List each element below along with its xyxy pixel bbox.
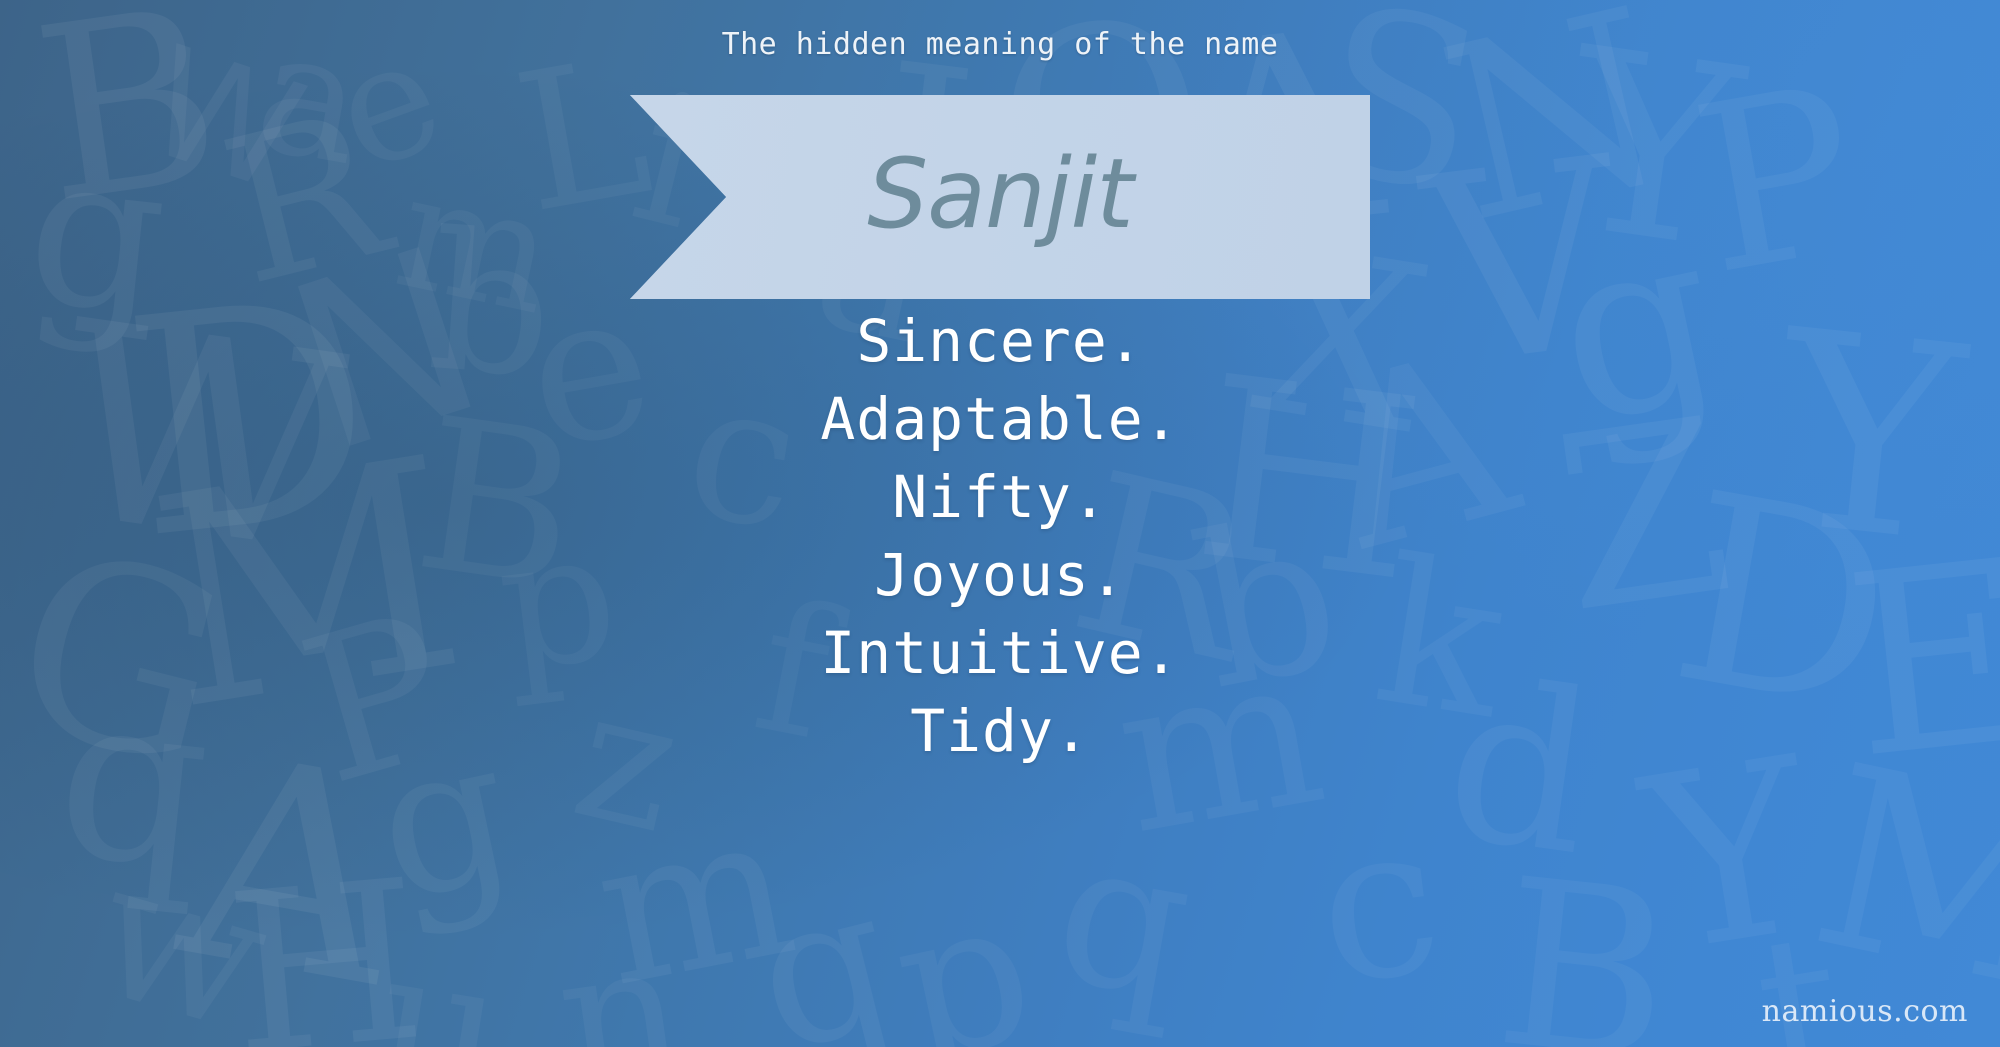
trait-line: Intuitive. [0,614,2000,692]
background-letter: w [82,851,280,1042]
trait-line: Nifty. [0,458,2000,536]
background-letter: p [885,888,1043,1047]
background-letter: q [743,877,906,1047]
ribbon-inner-shape: Sanjit [630,95,1370,299]
background-letter: u [369,941,514,1047]
background-letter: P [1685,78,1869,286]
trait-line: Adaptable. [0,380,2000,458]
background-letter: W [135,40,313,200]
trait-line: Joyous. [0,536,2000,614]
background-letter: q [1047,830,1201,1010]
background-letter: c [1310,813,1447,994]
background-letter: L [508,50,659,222]
background-letter: m [388,166,563,323]
page-title: The hidden meaning of the name [0,27,2000,62]
trait-list: Sincere.Adaptable.Nifty.Joyous.Intuitive… [0,302,2000,770]
trait-line: Sincere. [0,302,2000,380]
name-text: Sanjit [630,95,1370,299]
background-letter: B [1491,872,1678,1047]
background-letter: Y [1636,749,1823,963]
background-letter: m [586,803,803,996]
trait-line: Tidy. [0,692,2000,770]
background-letter: n [550,932,692,1047]
name-meaning-graphic: BgWRaDmWNbeGMqPAHwgBpzmcqJOaASNYPAVXgYAH… [0,0,2000,1047]
background-letter: g [22,143,173,324]
background-letter: R [213,104,398,296]
site-watermark: namious.com [1762,994,1968,1029]
background-letter: H [223,872,429,1047]
background-letter: M [1802,756,2000,1005]
background-letter: Y [1557,39,1748,260]
name-ribbon-banner: Sanjit [630,95,1370,299]
background-letter: A [172,744,410,1000]
